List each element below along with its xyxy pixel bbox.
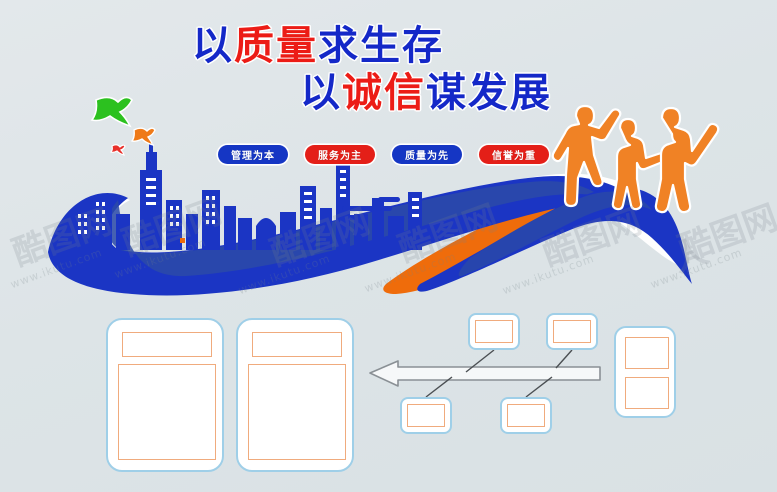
people-silhouettes xyxy=(553,106,719,212)
fishbone-node-top-1[interactable] xyxy=(468,313,520,350)
panel-right-body-box[interactable] xyxy=(248,364,346,460)
headline-char: 以 xyxy=(192,23,234,69)
headline-char: 谋 xyxy=(426,70,468,116)
badge-xinyu-weizhong[interactable]: 信誉为重 xyxy=(479,145,549,164)
content-panel-right[interactable] xyxy=(236,318,354,472)
fishbone-spine-arrow xyxy=(370,361,600,386)
badge-fuwu-weizhu[interactable]: 服务为主 xyxy=(305,145,375,164)
headline-char: 信 xyxy=(384,70,426,116)
person-2 xyxy=(613,119,664,209)
panel-left-header-box[interactable] xyxy=(122,332,212,357)
bird-orange-icon xyxy=(132,128,155,145)
headline-char: 诚 xyxy=(342,70,384,116)
fishbone-node-bottom-1-inner xyxy=(407,404,445,427)
fishbone-branch-top-2 xyxy=(556,350,572,368)
content-panel-left[interactable] xyxy=(106,318,224,472)
side-panel-box-2[interactable] xyxy=(625,377,669,409)
fishbone-node-top-1-inner xyxy=(475,320,513,343)
panel-left-body-box[interactable] xyxy=(118,364,216,460)
city-accent-dot xyxy=(180,238,185,243)
headline-char: 以 xyxy=(300,70,342,116)
side-panel-box-1[interactable] xyxy=(625,337,669,369)
fishbone-node-bottom-2[interactable] xyxy=(500,397,552,434)
headline-char: 质 xyxy=(234,23,276,69)
fishbone-node-bottom-2-inner xyxy=(507,404,545,427)
side-panel[interactable] xyxy=(614,326,676,418)
badge-zhiliang-weixian[interactable]: 质量为先 xyxy=(392,145,462,164)
headline-line-2: 以诚信谋发展 xyxy=(300,60,552,118)
bird-green-icon xyxy=(92,97,132,126)
fishbone-node-bottom-1[interactable] xyxy=(400,397,452,434)
bird-red-icon xyxy=(111,145,125,155)
headline-char: 发 xyxy=(468,70,510,116)
fishbone-node-top-2[interactable] xyxy=(546,313,598,350)
headline-char: 展 xyxy=(510,70,552,116)
fishbone-node-top-2-inner xyxy=(553,320,591,343)
culture-wall-canvas: 以质量求生存 以诚信谋发展 管理为本 服务为主 质量为先 信誉为重 酷图网 ww… xyxy=(0,0,777,492)
person-3 xyxy=(656,108,718,212)
badge-guanli-weiben[interactable]: 管理为本 xyxy=(218,145,288,164)
panel-right-header-box[interactable] xyxy=(252,332,342,357)
